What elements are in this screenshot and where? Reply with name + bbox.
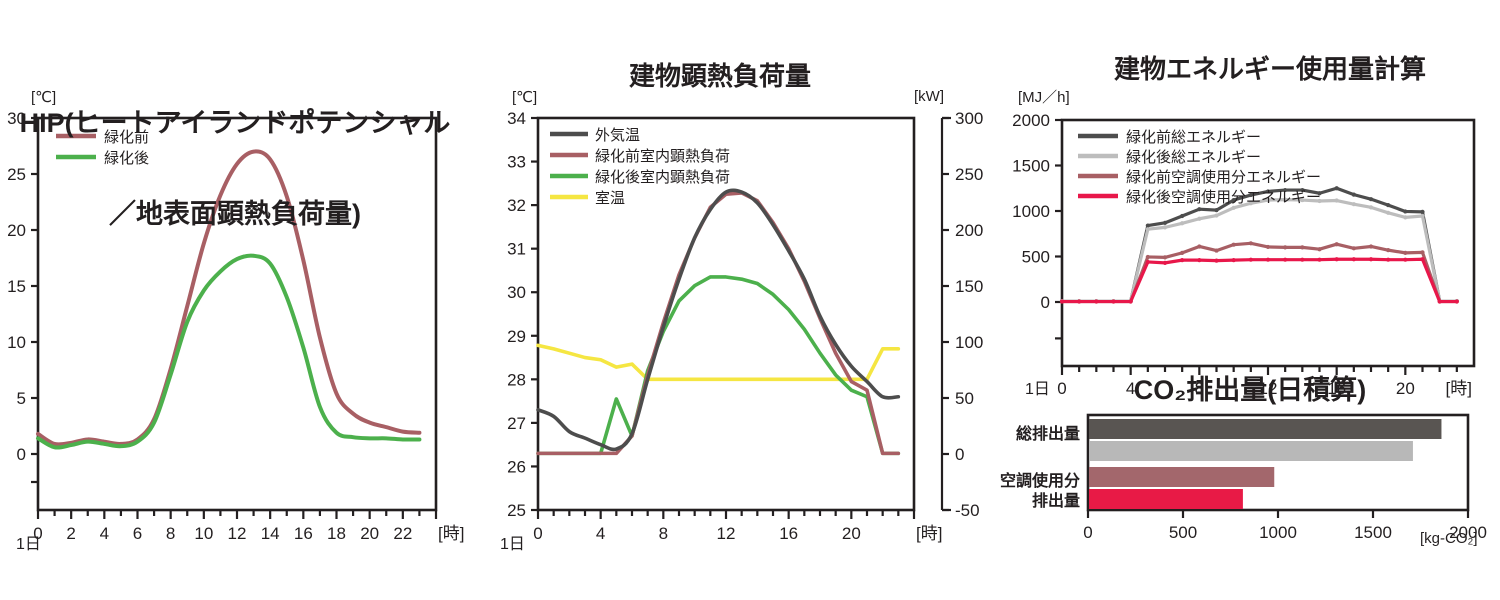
series-marker-3 (1129, 299, 1133, 303)
svg-text:8: 8 (659, 524, 668, 543)
series-marker-2 (1300, 245, 1304, 249)
series-line-3 (1062, 259, 1457, 301)
legend-label-2: 緑化前空調使用分エネルギー (1126, 169, 1321, 186)
series-marker-0 (1197, 207, 1201, 211)
series-marker-2 (1249, 241, 1253, 245)
figure-canvas: HIP(ヒートアイランドポテンシャル ／地表面顕熱負荷量) [℃] 1日 051… (0, 0, 1500, 600)
svg-text:[時]: [時] (916, 524, 942, 543)
series-marker-2 (1180, 251, 1184, 255)
series-marker-2 (1163, 255, 1167, 259)
series-marker-0 (1214, 208, 1218, 212)
series-marker-1 (1369, 205, 1373, 209)
svg-text:20: 20 (842, 524, 861, 543)
svg-text:4: 4 (596, 524, 605, 543)
bar-2 (1089, 467, 1274, 487)
series-line-3 (538, 345, 898, 379)
series-marker-0 (1386, 203, 1390, 207)
svg-text:14: 14 (261, 524, 280, 543)
svg-text:18: 18 (327, 524, 346, 543)
svg-text:0: 0 (533, 524, 542, 543)
series-marker-3 (1335, 257, 1339, 261)
series-marker-3 (1317, 258, 1321, 262)
series-marker-3 (1386, 258, 1390, 262)
series-marker-1 (1163, 225, 1167, 229)
svg-text:2000: 2000 (1012, 111, 1050, 130)
series-marker-3 (1455, 299, 1459, 303)
series-marker-2 (1232, 243, 1236, 247)
svg-text:16: 16 (779, 524, 798, 543)
bar-1 (1089, 441, 1413, 461)
series-marker-3 (1420, 257, 1424, 261)
svg-text:12: 12 (228, 524, 247, 543)
svg-text:1000: 1000 (1259, 523, 1297, 542)
legend-label-0: 外気温 (595, 127, 640, 144)
legend-label-1: 緑化後総エネルギー (1126, 149, 1261, 166)
series-marker-3 (1111, 299, 1115, 303)
y2-axis-unit-sensible-load: [kW] (914, 88, 944, 105)
series-marker-0 (1180, 214, 1184, 218)
chart-title-hip: HIP(ヒートアイランドポテンシャル ／地表面顕熱負荷量) (10, 48, 460, 290)
day-label-hip: 1日 (16, 530, 41, 554)
bar-group-label-total-text: 総排出量 (1016, 426, 1080, 443)
y-axis-unit-energy: [MJ／h] (1018, 86, 1070, 107)
x-axis-unit-co2: [kg-CO₂] (1420, 530, 1478, 547)
chart-title-energy: 建物エネルギー使用量計算 (1060, 55, 1480, 84)
series-marker-2 (1403, 251, 1407, 255)
svg-text:22: 22 (393, 524, 412, 543)
series-marker-0 (1163, 221, 1167, 225)
svg-text:20: 20 (360, 524, 379, 543)
svg-text:16: 16 (294, 524, 313, 543)
series-marker-2 (1335, 242, 1339, 246)
svg-text:500: 500 (1169, 523, 1197, 542)
bar-group-label-hvac-line: 排出量 (1000, 492, 1080, 512)
series-marker-2 (1369, 244, 1373, 248)
bar-group-label-hvac: 空調使用分排出量 (1000, 472, 1080, 511)
series-marker-2 (1317, 247, 1321, 251)
chart-panel-co2: CO₂排出量(日積算) 総排出量 空調使用分排出量 [kg-CO₂] 05001… (1000, 370, 1500, 600)
legend-label-2: 緑化後室内顕熱負荷 (595, 169, 730, 186)
series-marker-3 (1180, 258, 1184, 262)
series-line-0 (538, 190, 898, 449)
svg-text:25: 25 (507, 501, 526, 520)
series-marker-0 (1352, 193, 1356, 197)
svg-text:[時]: [時] (438, 524, 464, 543)
series-marker-3 (1077, 299, 1081, 303)
bar-3 (1089, 489, 1243, 509)
series-marker-2 (1352, 246, 1356, 250)
svg-text:1500: 1500 (1354, 523, 1392, 542)
series-marker-3 (1300, 258, 1304, 262)
series-marker-1 (1403, 215, 1407, 219)
legend-label-3: 緑化後空調使用分エネルギー (1126, 189, 1321, 206)
series-marker-3 (1163, 261, 1167, 265)
series-marker-2 (1146, 255, 1150, 259)
svg-text:0: 0 (1083, 523, 1092, 542)
svg-text:500: 500 (1022, 248, 1050, 267)
svg-text:4: 4 (100, 524, 109, 543)
chart-title-co2: CO₂排出量(日積算) (1040, 375, 1460, 405)
svg-text:1500: 1500 (1012, 157, 1050, 176)
svg-text:26: 26 (507, 457, 526, 476)
bar-0 (1089, 419, 1441, 439)
series-marker-0 (1146, 223, 1150, 227)
series-marker-2 (1214, 248, 1218, 252)
svg-text:10: 10 (194, 524, 213, 543)
series-marker-0 (1335, 186, 1339, 190)
series-marker-1 (1180, 221, 1184, 225)
series-marker-2 (1420, 250, 1424, 254)
series-marker-3 (1146, 260, 1150, 264)
series-marker-1 (1214, 213, 1218, 217)
series-marker-3 (1060, 299, 1064, 303)
series-marker-2 (1283, 245, 1287, 249)
series-line-2 (1062, 243, 1457, 301)
series-marker-1 (1386, 211, 1390, 215)
svg-text:50: 50 (955, 389, 974, 408)
svg-text:200: 200 (955, 221, 983, 240)
series-marker-3 (1232, 258, 1236, 262)
svg-text:0: 0 (955, 445, 964, 464)
chart-title-hip-line1: HIP(ヒートアイランドポテンシャル (10, 108, 460, 138)
svg-text:2: 2 (66, 524, 75, 543)
bar-group-label-total: 総排出量 (1000, 425, 1080, 445)
svg-text:34: 34 (507, 109, 526, 128)
chart-panel-energy: 建物エネルギー使用量計算 [MJ／h] 1日 05001000150020000… (1000, 0, 1500, 400)
svg-text:250: 250 (955, 165, 983, 184)
series-marker-3 (1283, 258, 1287, 262)
series-line-1 (538, 193, 898, 453)
legend-label-3: 室温 (595, 190, 625, 207)
series-marker-3 (1403, 258, 1407, 262)
series-marker-3 (1369, 257, 1373, 261)
legend-label-0: 緑化前総エネルギー (1126, 129, 1261, 146)
y-axis-unit-sensible-load: [℃] (512, 88, 537, 106)
svg-text:33: 33 (507, 153, 526, 172)
svg-text:-50: -50 (955, 501, 980, 520)
day-label-sensible-load: 1日 (500, 530, 525, 554)
svg-text:8: 8 (166, 524, 175, 543)
series-marker-2 (1386, 248, 1390, 252)
svg-text:6: 6 (133, 524, 142, 543)
series-marker-2 (1197, 244, 1201, 248)
bar-group-label-hvac-line: 空調使用分 (1000, 472, 1080, 492)
series-marker-3 (1266, 258, 1270, 262)
svg-text:30: 30 (507, 283, 526, 302)
svg-text:10: 10 (7, 333, 26, 352)
series-marker-3 (1094, 299, 1098, 303)
series-marker-1 (1232, 206, 1236, 210)
legend-label-1: 緑化前室内顕熱負荷 (595, 148, 730, 165)
series-marker-0 (1369, 197, 1373, 201)
series-marker-3 (1214, 258, 1218, 262)
svg-text:29: 29 (507, 327, 526, 346)
series-marker-1 (1197, 217, 1201, 221)
series-marker-1 (1146, 227, 1150, 231)
series-marker-0 (1403, 209, 1407, 213)
svg-text:28: 28 (507, 370, 526, 389)
svg-text:31: 31 (507, 240, 526, 259)
svg-text:1000: 1000 (1012, 202, 1050, 221)
series-marker-3 (1197, 258, 1201, 262)
svg-text:12: 12 (717, 524, 736, 543)
svg-text:150: 150 (955, 277, 983, 296)
series-marker-3 (1249, 258, 1253, 262)
chart-panel-sensible-load: 建物顕熱負荷量 [℃] [kW] 1日 25262728293031323334… (490, 0, 1000, 600)
svg-text:27: 27 (507, 414, 526, 433)
series-marker-3 (1438, 299, 1442, 303)
plot-frame-energy (1062, 120, 1474, 366)
chart-title-sensible-load: 建物顕熱負荷量 (520, 62, 920, 91)
series-marker-1 (1335, 198, 1339, 202)
svg-text:32: 32 (507, 196, 526, 215)
series-marker-1 (1420, 214, 1424, 218)
chart-panel-hip: HIP(ヒートアイランドポテンシャル ／地表面顕熱負荷量) [℃] 1日 051… (0, 0, 470, 600)
series-marker-2 (1266, 245, 1270, 249)
series-marker-0 (1420, 210, 1424, 214)
series-marker-1 (1352, 202, 1356, 206)
svg-text:100: 100 (955, 333, 983, 352)
series-marker-3 (1352, 257, 1356, 261)
svg-text:5: 5 (17, 389, 26, 408)
svg-text:300: 300 (955, 109, 983, 128)
svg-text:0: 0 (17, 445, 26, 464)
chart-title-hip-line2: ／地表面顕熱負荷量) (10, 199, 460, 229)
y-axis-unit-hip: [℃] (31, 88, 56, 106)
svg-text:0: 0 (1041, 293, 1050, 312)
